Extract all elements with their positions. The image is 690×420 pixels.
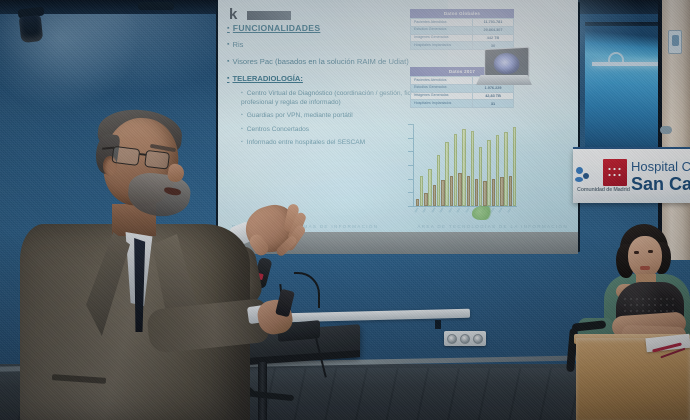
chart-bar xyxy=(492,179,495,206)
table-caption: Datos Globales xyxy=(410,9,514,18)
chart-bar xyxy=(424,193,427,206)
chart-bar-group xyxy=(483,124,490,206)
cell-value: 442 TB xyxy=(473,34,514,42)
cell-label: Pacientes Atendidos xyxy=(411,77,473,85)
chart-bar-group xyxy=(416,124,423,206)
chart-bar-group xyxy=(467,124,474,206)
table-row: Imágenes Generadas 442 TB xyxy=(411,34,514,42)
cell-label: Imágenes Generadas xyxy=(411,34,473,42)
footer-right-text: ÁREA DE TECNOLOGÍAS DE LA INFORMACIÓN xyxy=(417,224,568,229)
chart-bar xyxy=(420,176,423,206)
chart-bar xyxy=(462,129,465,206)
laptop-screen xyxy=(484,47,529,79)
cell-label: Pacientes Atendidos xyxy=(411,19,473,27)
chart-bar xyxy=(479,147,482,206)
chart-bar xyxy=(475,179,478,206)
slide-logo-bar xyxy=(247,11,291,20)
wall-socket-plate xyxy=(444,331,486,346)
conference-room-photo: k FUNCIONALIDADES Ris Visores Pac (basad… xyxy=(0,0,690,420)
power-socket xyxy=(460,334,470,344)
chart-bar-group xyxy=(441,124,448,206)
chart-bar xyxy=(504,132,507,206)
madrid-shield-icon xyxy=(603,159,627,186)
glasses-bridge xyxy=(140,153,147,155)
bullet-item: Ris xyxy=(227,40,423,50)
chart-bar-group xyxy=(475,124,482,206)
chart-bar-group xyxy=(450,124,457,206)
chart-bar-group xyxy=(433,124,440,206)
chart-bar xyxy=(428,169,431,206)
laptop-image xyxy=(476,48,532,90)
table-row: Hospitales Implantados 31 xyxy=(411,100,514,108)
power-socket xyxy=(447,334,457,344)
chart-bar xyxy=(441,180,444,206)
chart-bar-group xyxy=(509,124,516,206)
attendee-eye xyxy=(648,250,653,253)
cell-label: Hospitales Implantados xyxy=(411,100,473,108)
presenter-remote[interactable] xyxy=(275,289,295,318)
door-sign-plate xyxy=(668,30,682,54)
attendee-eye xyxy=(634,251,639,254)
madrid-stars-pattern xyxy=(607,166,623,179)
wooden-desk xyxy=(576,338,690,420)
chart-bar xyxy=(500,177,503,206)
table-row: Estudios Generados 29.864.307 xyxy=(411,26,514,34)
laptop-keyboard xyxy=(476,75,532,85)
power-socket xyxy=(473,334,483,344)
attendee-face xyxy=(628,236,662,278)
table-datos-globales: Datos Globales Pacientes Atendidos 11.70… xyxy=(410,9,514,50)
bullet-item: Visores Pac (basados en la solución RAIM… xyxy=(227,57,423,67)
door-handle[interactable] xyxy=(660,126,672,134)
chart-bar-group xyxy=(424,124,431,206)
cell-value: 31 xyxy=(473,100,514,108)
chart-bar xyxy=(496,135,499,206)
chart-y-ticks xyxy=(408,124,414,206)
slide-bar-chart: 2006200720082009201020112012201320142015… xyxy=(404,124,520,218)
bullet-heading: FUNCIONALIDADES xyxy=(227,23,423,33)
chart-x-label: 2017 xyxy=(506,206,518,217)
sign-line-1: Hospital Clínico xyxy=(631,160,690,174)
bullet-heading: TELERADIOLOGÍA: xyxy=(227,74,423,84)
table-row: Imágenes Generadas 42,83 TB xyxy=(411,92,514,100)
sub-bullet-item: Centro Virtual de Diagnóstico (coordinac… xyxy=(241,90,423,107)
chart-bar xyxy=(509,176,512,206)
table-row: Pacientes Atendidos 11.701.781 xyxy=(411,19,514,27)
chart-bar-group xyxy=(500,124,507,206)
chart-bar xyxy=(437,155,440,206)
chart-x-labels: 2006200720082009201020112012201320142015… xyxy=(416,207,516,217)
cell-label: Estudios Generados xyxy=(411,84,473,92)
cell-value: 42,83 TB xyxy=(473,92,514,100)
chart-bar xyxy=(458,173,461,206)
chart-bar xyxy=(483,181,486,206)
chart-bar xyxy=(450,176,453,206)
cell-label: Hospitales Implantados xyxy=(411,42,473,50)
madrid-swirl-icon xyxy=(574,165,594,187)
hospital-sign: Hospital Clínico San Carlos Comunidad de… xyxy=(573,149,690,203)
chart-bar xyxy=(487,140,490,206)
cell-value: 29.864.307 xyxy=(473,26,514,34)
lens xyxy=(144,150,170,170)
chart-bar xyxy=(471,131,474,206)
sign-community-text: Comunidad de Madrid xyxy=(577,187,630,193)
chart-bar-group xyxy=(492,124,499,206)
slide-logo: k xyxy=(229,6,295,23)
cell-value: 11.701.781 xyxy=(473,19,514,27)
chart-bars xyxy=(416,124,516,206)
wall-fixture xyxy=(435,320,441,329)
slide-logo-text: k xyxy=(229,6,236,23)
cell-label: Imágenes Generadas xyxy=(411,92,473,100)
chart-bar xyxy=(467,176,470,206)
sign-line-2: San Carlos xyxy=(631,174,690,194)
chart-bar xyxy=(513,127,516,206)
chart-bar xyxy=(433,185,436,206)
spotlight-icon xyxy=(19,15,44,43)
spotlight-icon xyxy=(138,2,174,10)
medical-scan-image xyxy=(494,52,520,74)
presenter xyxy=(0,108,300,420)
attendee-mouth xyxy=(640,266,650,270)
chart-bar xyxy=(454,134,457,206)
chart-bar xyxy=(445,142,448,206)
chart-bar-group xyxy=(458,124,465,206)
lens xyxy=(111,146,140,166)
slide-corner-logo xyxy=(472,206,494,220)
cell-label: Estudios Generados xyxy=(411,26,473,34)
